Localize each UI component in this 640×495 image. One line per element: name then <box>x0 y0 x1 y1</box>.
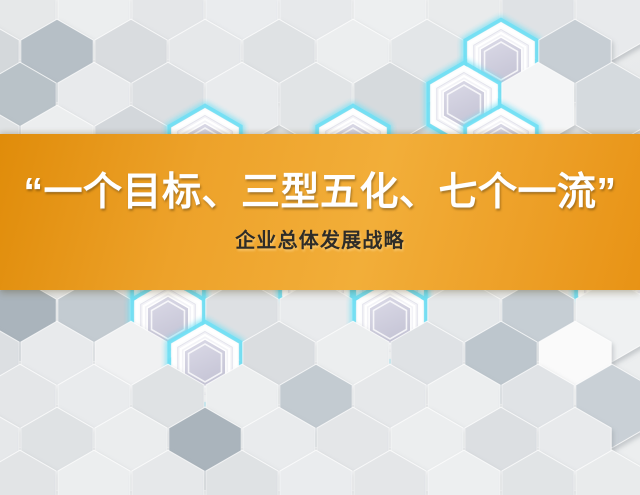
banner-content: “一个目标、三型五化、七个一流” 企业总体发展战略 <box>0 134 640 290</box>
page-title: “一个目标、三型五化、七个一流” <box>13 172 626 213</box>
presentation-slide: “一个目标、三型五化、七个一流” 企业总体发展战略 <box>0 0 640 495</box>
title-banner: “一个目标、三型五化、七个一流” 企业总体发展战略 <box>0 134 640 290</box>
page-subtitle: 企业总体发展战略 <box>235 230 405 252</box>
